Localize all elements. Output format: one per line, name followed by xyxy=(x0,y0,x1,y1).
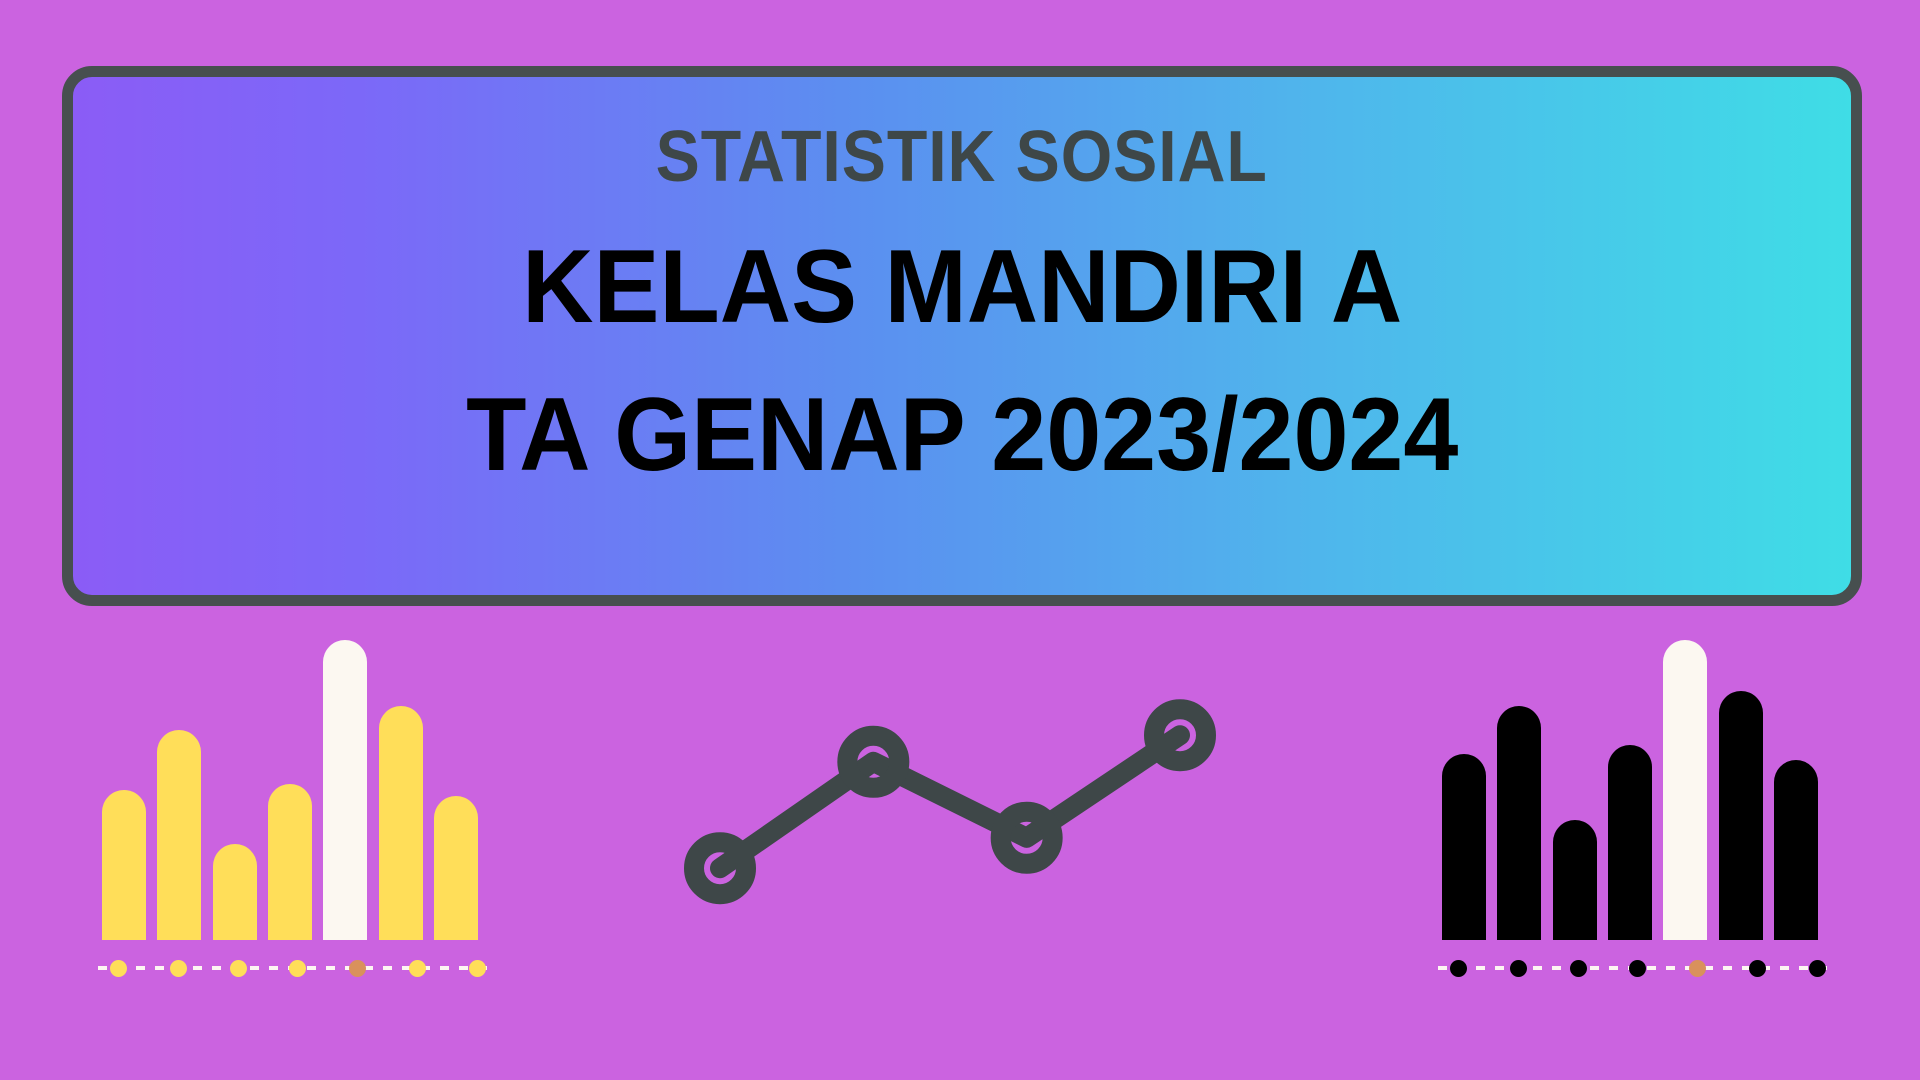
axis-dot xyxy=(1629,960,1646,977)
axis-right xyxy=(1438,956,1830,980)
axis-dot xyxy=(1450,960,1467,977)
axis-dot xyxy=(1510,960,1527,977)
bar xyxy=(1608,745,1652,940)
bar xyxy=(1442,754,1486,940)
axis-dot xyxy=(469,960,486,977)
line-chart-svg xyxy=(680,680,1220,950)
bar xyxy=(1553,820,1597,940)
bar xyxy=(157,730,201,940)
axis-dot xyxy=(1689,960,1706,977)
axis-dot-group-right xyxy=(1450,956,1826,980)
banner-eyebrow: STATISTIK SOSIAL xyxy=(656,121,1268,193)
axis-dot xyxy=(1570,960,1587,977)
banner-headline-primary: KELAS MANDIRI A xyxy=(522,235,1402,339)
banner-headline-secondary: TA GENAP 2023/2024 xyxy=(466,383,1458,487)
line-chart-icon xyxy=(680,680,1220,950)
bar xyxy=(1719,691,1763,940)
bar xyxy=(323,640,367,940)
title-banner: STATISTIK SOSIAL KELAS MANDIRI A TA GENA… xyxy=(62,66,1862,606)
poster-canvas: STATISTIK SOSIAL KELAS MANDIRI A TA GENA… xyxy=(0,0,1920,1080)
axis-left xyxy=(98,956,490,980)
axis-dot xyxy=(230,960,247,977)
bar xyxy=(102,790,146,940)
axis-dot xyxy=(349,960,366,977)
bar xyxy=(1663,640,1707,940)
axis-dot xyxy=(110,960,127,977)
bar-chart-icon-left xyxy=(80,640,500,1000)
axis-dot xyxy=(1809,960,1826,977)
bar xyxy=(213,844,257,940)
bar xyxy=(268,784,312,940)
bar xyxy=(379,706,423,940)
bar xyxy=(1497,706,1541,940)
bar-group-right xyxy=(1442,640,1818,940)
bar-chart-icon-right xyxy=(1420,640,1840,1000)
bar-group-left xyxy=(102,640,478,940)
chart-icon-row xyxy=(0,640,1920,1000)
axis-dot xyxy=(1749,960,1766,977)
axis-dot xyxy=(289,960,306,977)
bar xyxy=(434,796,478,940)
axis-dot xyxy=(409,960,426,977)
bar xyxy=(1774,760,1818,940)
axis-dot xyxy=(170,960,187,977)
axis-dot-group-left xyxy=(110,956,486,980)
line-series-path xyxy=(720,735,1180,868)
